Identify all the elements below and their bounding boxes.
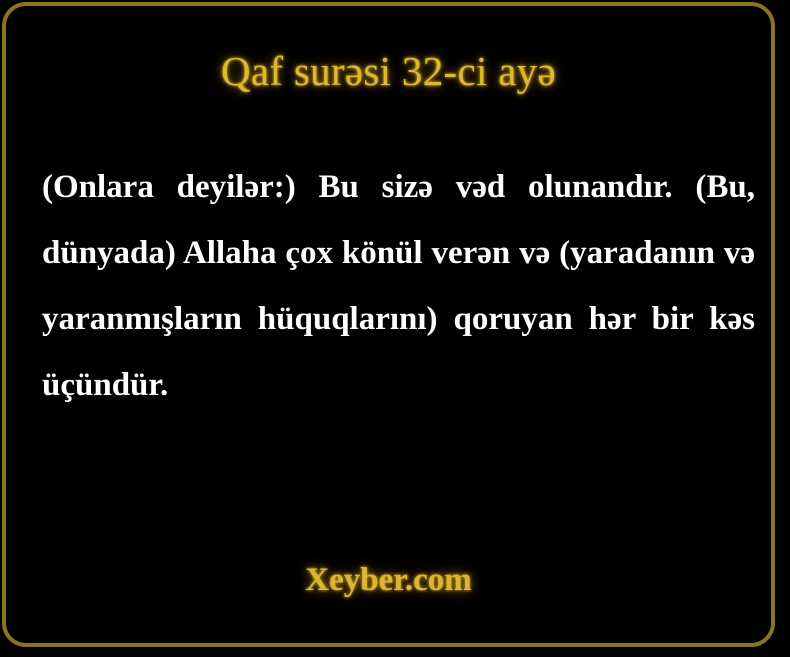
verse-card: Qaf surəsi 32-ci ayə (Onlara deyilər:) B… [2,2,775,647]
page-title: Qaf surəsi 32-ci ayə [6,48,771,95]
verse-body-text: (Onlara deyilər:) Bu sizə vəd olunandır.… [42,154,755,418]
site-watermark: Xeyber.com [6,561,771,601]
